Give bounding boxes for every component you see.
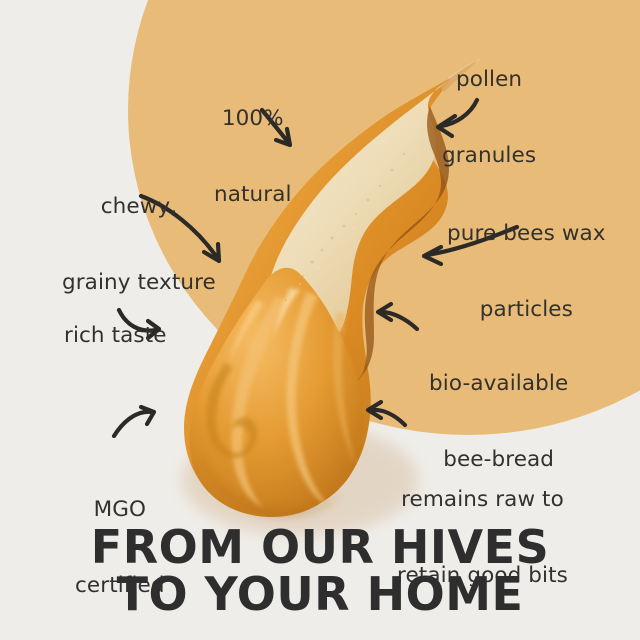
arrow-mgo-certified (114, 407, 154, 436)
label-line: chewy, (62, 194, 216, 219)
label-line: bio-available (429, 371, 568, 396)
label-line: granules (442, 143, 536, 168)
headline-line-1: FROM OUR HIVES (0, 524, 640, 571)
headline-line-2: TO YOUR HOME (0, 571, 640, 618)
label-line: rich taste (64, 323, 167, 348)
label-line: MGO (75, 497, 165, 522)
label-line: natural (214, 182, 292, 207)
annotation-rich-taste: rich taste (64, 272, 167, 399)
arrow-remains-raw (368, 402, 405, 425)
label-line: pollen (442, 67, 536, 92)
poster-canvas: 100% natural pollen granules chewy, grai… (0, 0, 640, 640)
label-line: remains raw to (397, 487, 568, 512)
label-line: pure bees wax (447, 221, 606, 246)
annotation-hundred-natural: 100% natural (214, 55, 292, 258)
headline: FROM OUR HIVES TO YOUR HOME (0, 524, 640, 618)
label-line: particles (447, 297, 606, 322)
label-line: 100% (214, 106, 292, 131)
arrow-bio-available (378, 304, 417, 329)
